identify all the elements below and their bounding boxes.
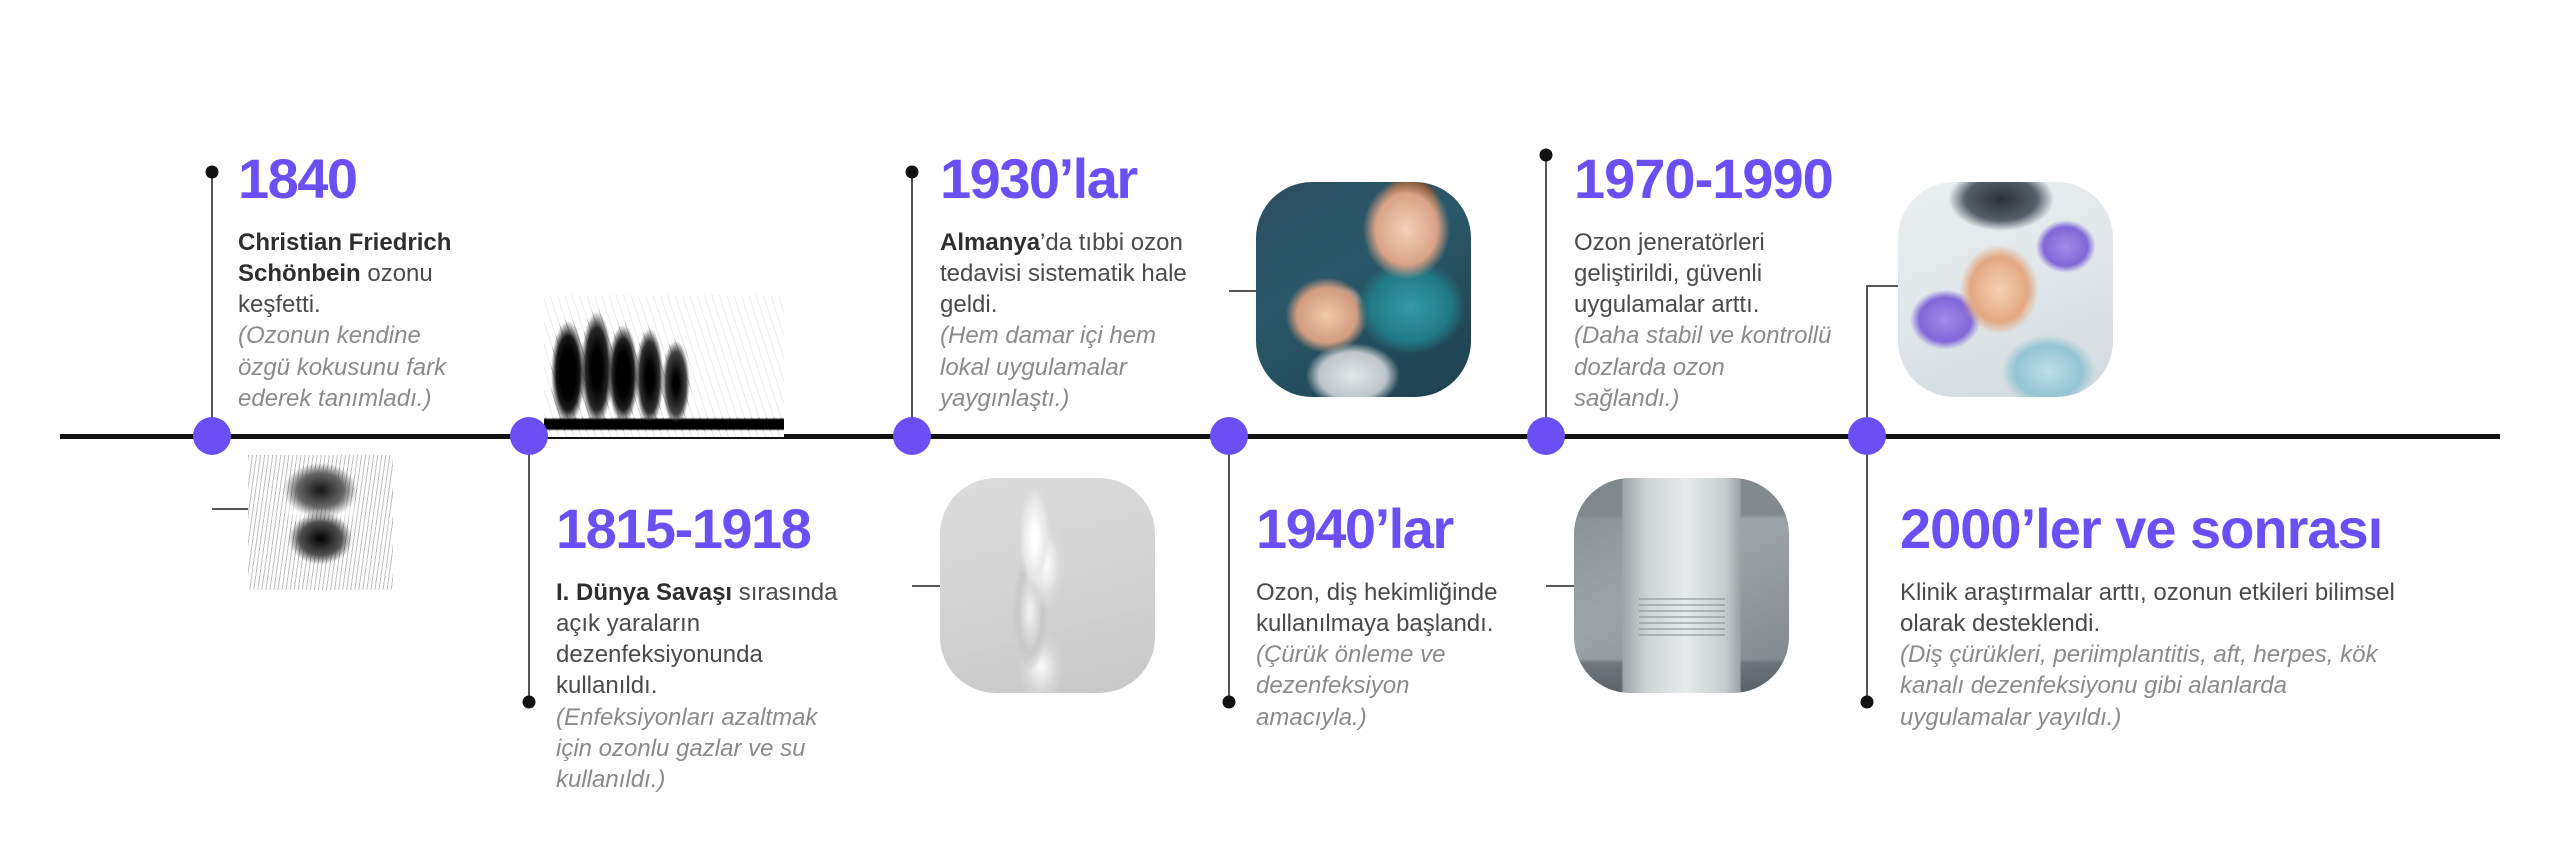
event-desc-1970: Ozon jeneratörleri geliştirildi, güvenli… xyxy=(1574,227,1834,321)
event-block-1815: 1815-1918 I. Dünya Savaşı sırasında açık… xyxy=(556,500,856,795)
connector-stem-2000-upper xyxy=(1866,285,1868,437)
connector-stem-1840 xyxy=(211,172,213,437)
timeline-infographic: 1840 Christian Friedrich Schönbein ozonu… xyxy=(0,0,2560,867)
event-desc-1930: Almanya’da tıbbi ozon tedavisi sistemati… xyxy=(940,227,1190,321)
event-note-1930: (Hem damar içi hem lokal uygulamalar yay… xyxy=(940,320,1190,414)
event-year-1970: 1970-1990 xyxy=(1574,150,1834,209)
event-desc-rest-2000: Klinik araştırmalar arttı, ozonun etkile… xyxy=(1900,579,2395,637)
connector-stem-1940 xyxy=(1228,437,1230,702)
timeline-node-2000[interactable] xyxy=(1848,417,1886,455)
connector-tip-dot-2000 xyxy=(1861,696,1874,709)
schonbein-portrait-image xyxy=(248,455,393,590)
connector-tip-dot-1840 xyxy=(206,166,219,179)
connector-branch-1940-image xyxy=(1229,290,1259,292)
event-desc-2000: Klinik araştırmalar arttı, ozonun etkile… xyxy=(1900,577,2400,639)
timeline-node-1930[interactable] xyxy=(893,417,931,455)
connector-tip-dot-1940 xyxy=(1223,696,1236,709)
event-block-2000: 2000’ler ve sonrası Klinik araştırmalar … xyxy=(1900,500,2400,733)
vial-in-gloved-hand-image xyxy=(940,478,1155,693)
timeline-node-1970[interactable] xyxy=(1527,417,1565,455)
event-note-1815: (Enfeksiyonları azaltmak için ozonlu gaz… xyxy=(556,702,856,796)
modern-dental-photo-image xyxy=(1898,182,2113,397)
connector-stem-2000 xyxy=(1866,437,1868,702)
ozone-generator-image xyxy=(1574,478,1789,693)
timeline-axis xyxy=(60,434,2500,439)
event-year-1815: 1815-1918 xyxy=(556,500,856,559)
timeline-node-1840[interactable] xyxy=(193,417,231,455)
connector-stem-1815 xyxy=(528,437,530,702)
event-note-1940: (Çürük önleme ve dezenfeksiyon amacıyla.… xyxy=(1256,639,1526,733)
connector-tip-dot-1815 xyxy=(523,696,536,709)
event-year-2000: 2000’ler ve sonrası xyxy=(1900,500,2400,559)
connector-branch-1930-image xyxy=(912,585,942,587)
connector-tip-dot-1930 xyxy=(906,166,919,179)
event-desc-1815: I. Dünya Savaşı sırasında açık yaraların… xyxy=(556,577,856,702)
event-desc-strong-1930: Almanya xyxy=(940,229,1040,256)
event-desc-rest-1970: Ozon jeneratörleri geliştirildi, güvenli… xyxy=(1574,229,1765,318)
timeline-node-1815[interactable] xyxy=(510,417,548,455)
event-note-1970: (Daha stabil ve kontrollü dozlarda ozon … xyxy=(1574,320,1834,414)
event-note-1840: (Ozonun kendine özgü kokusunu fark edere… xyxy=(238,320,473,414)
event-block-1940: 1940’lar Ozon, diş hekimliğinde kullanıl… xyxy=(1256,500,1526,733)
connector-branch-1840-image xyxy=(212,508,252,510)
wwi-soldiers-image xyxy=(544,295,784,437)
event-year-1840: 1840 xyxy=(238,150,473,209)
event-block-1930: 1930’lar Almanya’da tıbbi ozon tedavisi … xyxy=(940,150,1190,414)
event-year-1930: 1930’lar xyxy=(940,150,1190,209)
retro-dental-illustration-image xyxy=(1256,182,1471,397)
event-desc-strong-1815: I. Dünya Savaşı xyxy=(556,579,732,606)
event-desc-rest-1940: Ozon, diş hekimliğinde kullanılmaya başl… xyxy=(1256,579,1497,637)
event-block-1840: 1840 Christian Friedrich Schönbein ozonu… xyxy=(238,150,473,414)
event-desc-1940: Ozon, diş hekimliğinde kullanılmaya başl… xyxy=(1256,577,1526,639)
connector-branch-1970-image xyxy=(1546,585,1576,587)
event-desc-1840: Christian Friedrich Schönbein ozonu keşf… xyxy=(238,227,473,321)
connector-stem-1970 xyxy=(1545,155,1547,437)
event-note-2000: (Diş çürükleri, periimplantitis, aft, he… xyxy=(1900,639,2400,733)
timeline-node-1940[interactable] xyxy=(1210,417,1248,455)
connector-stem-1930 xyxy=(911,172,913,437)
connector-tip-dot-1970 xyxy=(1540,149,1553,162)
event-block-1970: 1970-1990 Ozon jeneratörleri geliştirild… xyxy=(1574,150,1834,414)
event-year-1940: 1940’lar xyxy=(1256,500,1526,559)
